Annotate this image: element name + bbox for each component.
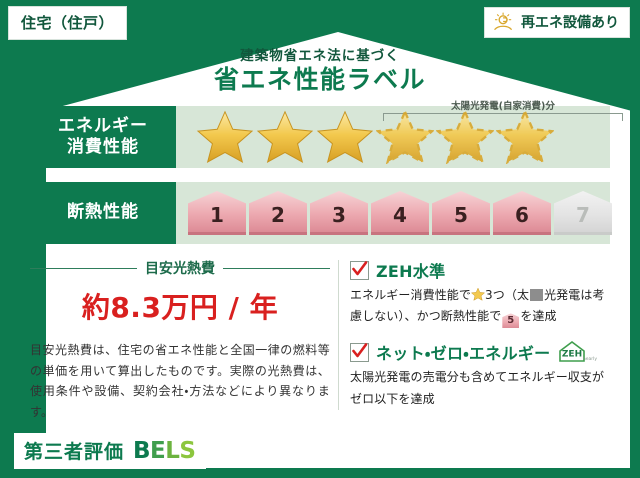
utility-cost-heading-text: 目安光熱費 (145, 258, 215, 278)
insulation-row: 断熱性能 1 2 3 4 5 6 7 (30, 182, 610, 244)
energy-row-value: 太陽光発電(自家消費)分 (176, 106, 610, 168)
energy-row-label: エネルギー 消費性能 (30, 106, 176, 168)
star-icon-solar-5 (436, 108, 494, 164)
insulation-chip-5: 5 (432, 191, 490, 235)
net-zero-header: ネット・ゼロ・エネルギー ZEH nearly (350, 340, 612, 364)
insulation-chip-2: 2 (249, 191, 307, 235)
evaluation-date: 評価日 2025年8月1日 (483, 436, 626, 456)
utility-cost-heading: 目安光熱費 (30, 258, 330, 278)
house-type-tag: 住宅（住戸） (8, 6, 127, 40)
insulation-label-text: 断熱性能 (67, 202, 139, 223)
insulation-chip-6: 6 (493, 191, 551, 235)
svg-text:ZEH: ZEH (562, 350, 582, 360)
energy-label-line1: エネルギー (58, 116, 148, 137)
zeh-block: ZEH水準 エネルギー消費性能で3つ（太光発電は考慮しない）、かつ断熱性能で5を… (350, 258, 612, 422)
utility-cost-value: 約8.3万円 / 年 (30, 286, 330, 326)
insulation-chip-7: 7 (554, 191, 612, 235)
bels-letter-b: B (133, 438, 150, 464)
zeh-standard-item: ZEH水準 エネルギー消費性能で3つ（太光発電は考慮しない）、かつ断熱性能で5を… (350, 258, 612, 328)
insulation-chip-4: 4 (371, 191, 429, 235)
bels-certification-mark: 第三者評価 BELS (14, 433, 206, 469)
insulation-row-label: 断熱性能 (30, 182, 176, 244)
insulation-chip-3: 3 (310, 191, 368, 235)
energy-label-line2: 消費性能 (67, 137, 139, 158)
property-name: カルニュ 301号室 (218, 444, 344, 463)
heading-rule-right (223, 268, 330, 269)
checkbox-checked-icon-2 (350, 343, 369, 362)
footer-right: 評価日 2025年8月1日 e7baa71d-fb6a-450d (483, 436, 626, 469)
zeh-standard-body: エネルギー消費性能で3つ（太光発電は考慮しない）、かつ断熱性能で5を達成 (350, 285, 612, 328)
svg-text:nearly: nearly (583, 356, 597, 362)
document-id: e7baa71d-fb6a-450d (483, 458, 626, 469)
star-icon-solar-4 (376, 108, 434, 164)
details-section: 目安光熱費 約8.3万円 / 年 目安光熱費は、住宅の省エネ性能と全国一律の燃料… (30, 258, 610, 418)
zeh-standard-text-a: エネルギー消費性能で (350, 288, 471, 302)
bels-letter-s: S (179, 438, 195, 464)
star-icon-filled-2 (256, 108, 314, 164)
energy-consumption-row: エネルギー 消費性能 太陽光発電(自家消費)分 (30, 106, 610, 168)
insulation-level-chips: 1 2 3 4 5 6 7 (188, 191, 612, 235)
star-rating (196, 108, 554, 164)
checkbox-checked-icon (350, 261, 369, 280)
insulation-chip-1: 1 (188, 191, 246, 235)
insulation-row-value: 1 2 3 4 5 6 7 (176, 182, 610, 244)
star-icon-filled-3 (316, 108, 374, 164)
zeh-standard-text-b: 3つ（太 (485, 288, 529, 302)
sun-icon (493, 12, 515, 32)
utility-cost-note: 目安光熱費は、住宅の省エネ性能と全国一律の燃料等の単価を用いて算出したものです。… (30, 340, 330, 423)
column-divider (338, 260, 339, 410)
redacted-character (530, 289, 543, 301)
bels-letter-e: E (150, 438, 165, 464)
mini-star-icon (471, 287, 485, 301)
heading-rule-left (30, 268, 137, 269)
star-icon-filled-1 (196, 108, 254, 164)
net-zero-title: ネット・ゼロ・エネルギー (376, 340, 550, 364)
third-party-eval-label: 第三者評価 (24, 437, 124, 464)
star-icon-solar-6 (496, 108, 554, 164)
bels-logo: BELS (133, 438, 195, 464)
zeh-standard-level-badge: 5 (502, 313, 519, 328)
renewable-equipment-badge: 再エネ設備あり (484, 7, 630, 38)
label-title: 省エネ性能ラベル (0, 60, 640, 96)
label-footer: 第三者評価 BELS カルニュ 301号室 評価日 2025年8月1日 e7ba… (0, 426, 640, 478)
net-zero-energy-item: ネット・ゼロ・エネルギー ZEH nearly 太陽光発電の売電分も含めてエネル… (350, 340, 612, 410)
check-mark-icon (351, 259, 368, 279)
ratings-panel: エネルギー 消費性能 太陽光発電(自家消費)分 (30, 106, 610, 248)
zeh-house-logo-icon: ZEH nearly (557, 340, 597, 364)
utility-cost-block: 目安光熱費 約8.3万円 / 年 目安光熱費は、住宅の省エネ性能と全国一律の燃料… (30, 258, 330, 423)
renewable-badge-label: 再エネ設備あり (521, 12, 619, 32)
energy-performance-label: 住宅（住戸） 再エネ設備あり 建築物省エネ法に基づく 省エネ性能ラベル エネルギ… (0, 0, 640, 478)
net-zero-body: 太陽光発電の売電分も含めてエネルギー収支がゼロ以下を達成 (350, 367, 612, 410)
zeh-standard-text-d: を達成 (520, 309, 556, 323)
check-mark-icon-2 (351, 341, 368, 361)
zeh-standard-title: ZEH水準 (376, 258, 445, 282)
bels-letter-l: L (165, 438, 179, 464)
zeh-standard-header: ZEH水準 (350, 258, 612, 282)
